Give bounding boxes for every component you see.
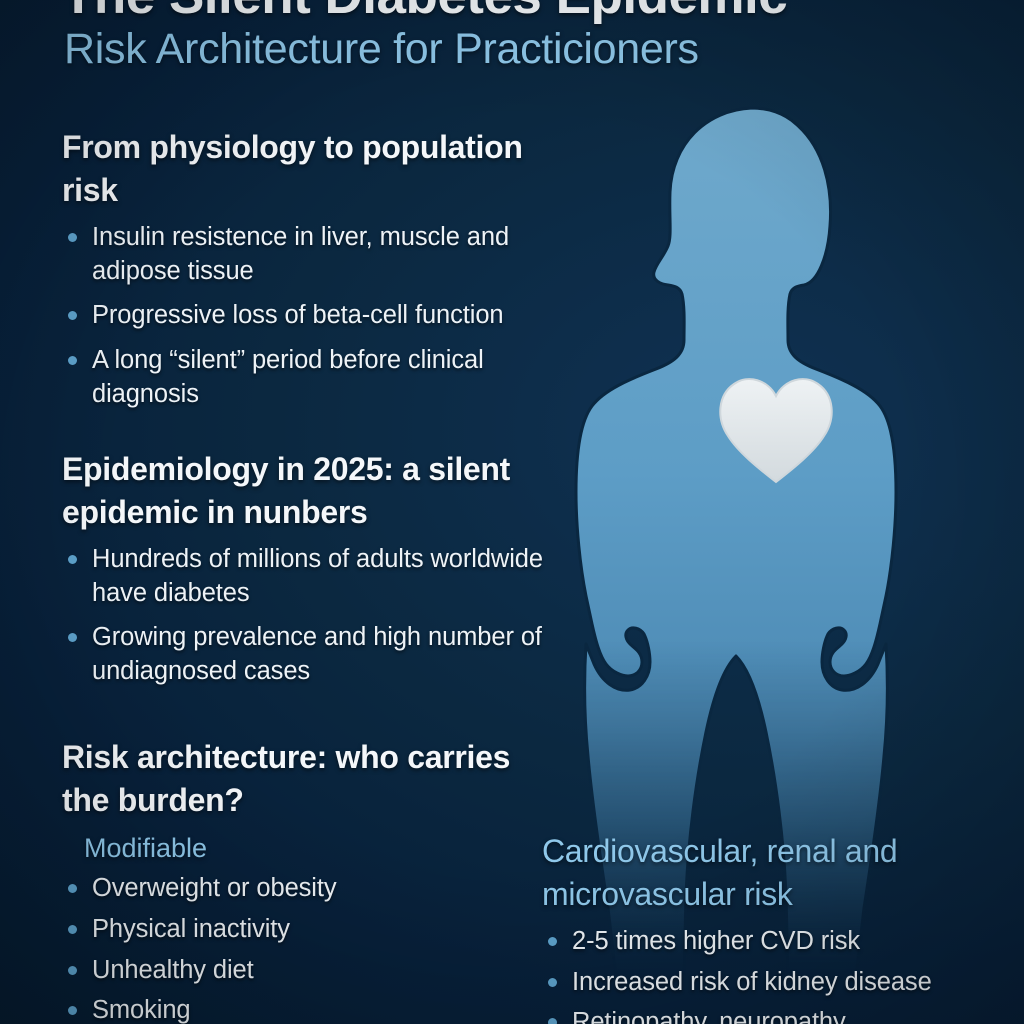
page-subtitle: Risk Architecture for Practicioners	[64, 26, 964, 73]
bullet-dot-icon	[68, 555, 77, 564]
bullet-dot-icon	[68, 925, 77, 934]
list-item: 2-5 times higher CVD risk	[542, 925, 1012, 959]
list-item-label: Unhealthy diet	[92, 956, 254, 984]
list-item: Growing prevalence and high number of un…	[62, 621, 582, 688]
bullet-list-complications: 2-5 times higher CVD risk Increased risk…	[542, 925, 1012, 1024]
list-item: A long “silent” period before clinical d…	[62, 344, 582, 411]
bullet-list-physiology: Insulin resistence in liver, muscle and …	[62, 221, 582, 411]
list-item-label: Growing prevalence and high number of un…	[92, 623, 542, 685]
list-item-label: Physical inactivity	[92, 915, 290, 943]
page-title: The Silent Diabetes Epidemic	[62, 0, 962, 24]
bullet-list-modifiable-risks: Overweight or obesity Physical inactivit…	[62, 872, 562, 1024]
list-item: Progressive loss of beta-cell function	[62, 299, 582, 333]
list-item: Smoking	[62, 994, 562, 1024]
bullet-dot-icon	[548, 978, 557, 987]
section-physiology: From physiology to population risk Insul…	[62, 126, 582, 422]
list-item-label: Smoking	[92, 996, 191, 1024]
bullet-dot-icon	[68, 356, 77, 365]
list-item: Unhealthy diet	[62, 954, 562, 988]
bullet-dot-icon	[548, 937, 557, 946]
bullet-dot-icon	[68, 633, 77, 642]
list-item: Retinopathy, neuropathy	[542, 1006, 1012, 1024]
list-item: Overweight or obesity	[62, 872, 562, 906]
list-item: Physical inactivity	[62, 913, 562, 947]
list-item-label: Increased risk of kidney disease	[572, 968, 932, 996]
list-item: Increased risk of kidney disease	[542, 966, 1012, 1000]
section-heading-complications: Cardiovascular, renal and microvascular …	[542, 830, 1012, 915]
list-item-label: Retinopathy, neuropathy	[572, 1008, 846, 1024]
section-heading-physiology: From physiology to population risk	[62, 126, 582, 211]
subsection-label-modifiable: Modifiable	[84, 831, 562, 866]
bullet-dot-icon	[68, 233, 77, 242]
list-item-label: 2-5 times higher CVD risk	[572, 927, 860, 955]
list-item-label: Overweight or obesity	[92, 874, 337, 902]
bullet-dot-icon	[68, 966, 77, 975]
infographic-poster: The Silent Diabetes Epidemic Risk Archit…	[0, 0, 1024, 1024]
section-epidemiology: Epidemiology in 2025: a silent epidemic …	[62, 448, 582, 700]
list-item-label: Progressive loss of beta-cell function	[92, 301, 503, 329]
bullet-dot-icon	[68, 1006, 77, 1015]
list-item: Hundreds of millions of adults worldwide…	[62, 543, 582, 610]
list-item-label: Insulin resistence in liver, muscle and …	[92, 223, 509, 285]
section-complications: Cardiovascular, renal and microvascular …	[542, 830, 1012, 1024]
list-item-label: A long “silent” period before clinical d…	[92, 346, 484, 408]
bullet-dot-icon	[548, 1018, 557, 1024]
section-heading-epidemiology: Epidemiology in 2025: a silent epidemic …	[62, 448, 582, 533]
section-heading-risk-architecture: Risk architecture: who carries the burde…	[62, 736, 562, 821]
list-item-label: Hundreds of millions of adults worldwide…	[92, 545, 543, 607]
list-item: Insulin resistence in liver, muscle and …	[62, 221, 582, 288]
bullet-list-epidemiology: Hundreds of millions of adults worldwide…	[62, 543, 582, 689]
section-risk-architecture: Risk architecture: who carries the burde…	[62, 736, 562, 1024]
bullet-dot-icon	[68, 311, 77, 320]
bullet-dot-icon	[68, 884, 77, 893]
